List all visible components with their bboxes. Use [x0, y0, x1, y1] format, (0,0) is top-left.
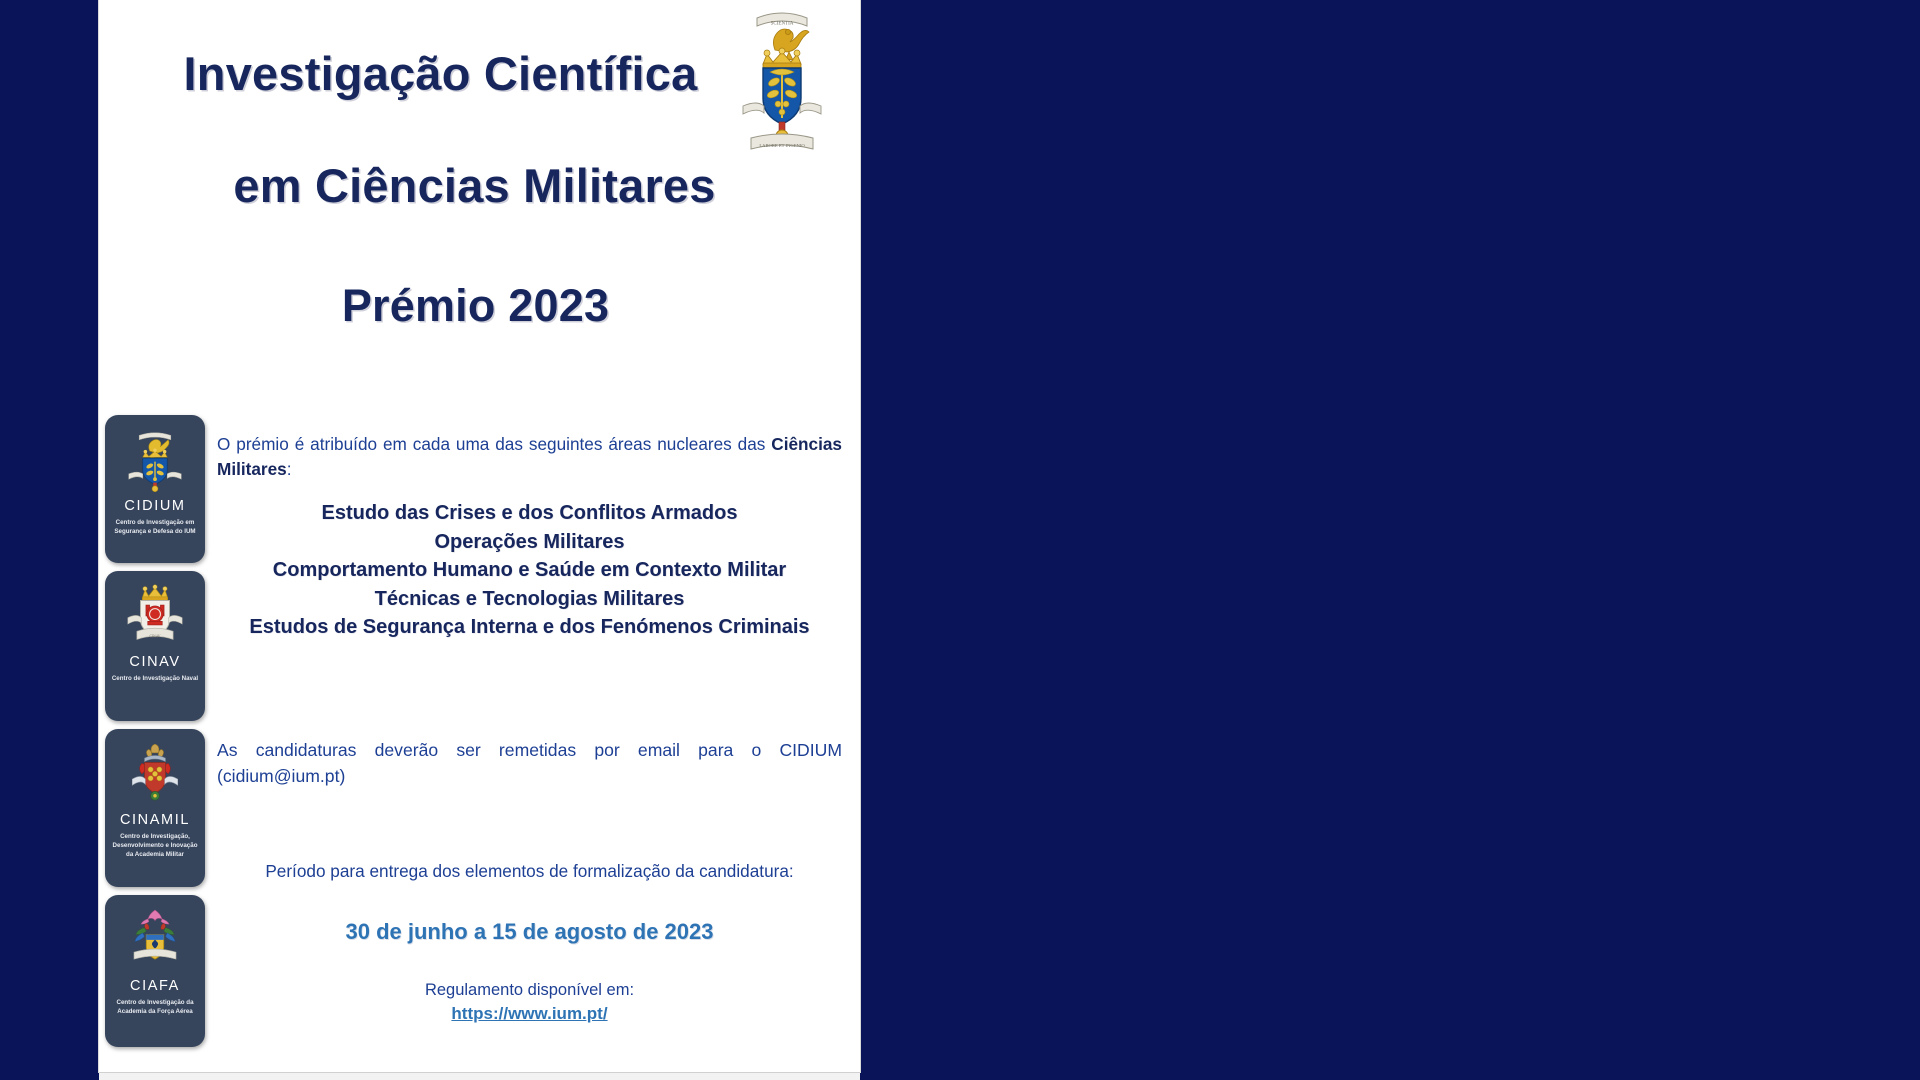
slide-bottom-strip: [99, 1072, 860, 1080]
logo-subtitle-cidium: Centro de Investigação em Segurança e De…: [108, 518, 202, 536]
intro-paragraph: O prémio é atribuído em cada uma das seg…: [217, 432, 842, 482]
logo-card-ciafa: CIAFA Centro de Investigação da Academia…: [105, 895, 205, 1047]
logo-card-cinamil: CINAMIL Centro de Investigação, Desenvol…: [105, 729, 205, 887]
area-item: Comportamento Humano e Saúde em Contexto…: [217, 556, 842, 585]
regulation-label: Regulamento disponível em:: [217, 979, 842, 1002]
logo-card-cinav: CINAV CINAV Centro de Investigação Naval: [105, 571, 205, 721]
nuclear-areas-list: Estudo das Crises e dos Conflitos Armado…: [217, 499, 842, 642]
title-line-3: Prémio 2023: [99, 242, 860, 362]
logo-acronym-cinav: CINAV: [108, 654, 202, 670]
ciafa-emblem-icon: [108, 902, 202, 976]
intro-prefix: O prémio é atribuído em cada uma das seg…: [217, 434, 771, 454]
cinav-emblem-icon: CINAV: [108, 578, 202, 652]
research-centre-logo-rail: CIDIUM Centro de Investigação em Seguran…: [105, 415, 209, 1055]
logo-acronym-cinamil: CINAMIL: [108, 812, 202, 828]
period-label: Período para entrega dos elementos de fo…: [217, 859, 842, 884]
submission-paragraph: As candidaturas deverão ser remetidas po…: [217, 737, 842, 789]
logo-acronym-cidium: CIDIUM: [108, 498, 202, 514]
ium-crest-icon: SCIENTIA: [737, 2, 827, 152]
presentation-slide: Investigação Científica em Ciências Mili…: [99, 0, 860, 1072]
svg-text:LABORE ET INGENIO: LABORE ET INGENIO: [759, 143, 805, 148]
logo-subtitle-cinav: Centro de Investigação Naval: [108, 674, 202, 683]
svg-text:SCIENTIA: SCIENTIA: [771, 22, 794, 27]
intro-suffix: :: [287, 459, 292, 479]
submission-dates: 30 de junho a 15 de agosto de 2023: [217, 919, 842, 945]
regulation-url-link[interactable]: https://www.ium.pt/: [217, 1002, 842, 1026]
logo-subtitle-cinamil: Centro de Investigação, Desenvolvimento …: [108, 832, 202, 859]
cinamil-emblem-icon: [108, 736, 202, 810]
logo-subtitle-ciafa: Centro de Investigação da Academia da Fo…: [108, 998, 202, 1016]
area-item: Técnicas e Tecnologias Militares: [217, 585, 842, 614]
logo-card-cidium: CIDIUM Centro de Investigação em Seguran…: [105, 415, 205, 563]
logo-acronym-ciafa: CIAFA: [108, 978, 202, 994]
area-item: Estudo das Crises e dos Conflitos Armado…: [217, 499, 842, 528]
slide-body: O prémio é atribuído em cada uma das seg…: [217, 415, 842, 1026]
area-item: Estudos de Segurança Interna e dos Fenóm…: [217, 613, 842, 642]
slide-viewer: Investigação Científica em Ciências Mili…: [0, 0, 1920, 1080]
svg-text:CINAV: CINAV: [150, 635, 161, 639]
cidium-emblem-icon: [108, 422, 202, 496]
area-item: Operações Militares: [217, 528, 842, 557]
